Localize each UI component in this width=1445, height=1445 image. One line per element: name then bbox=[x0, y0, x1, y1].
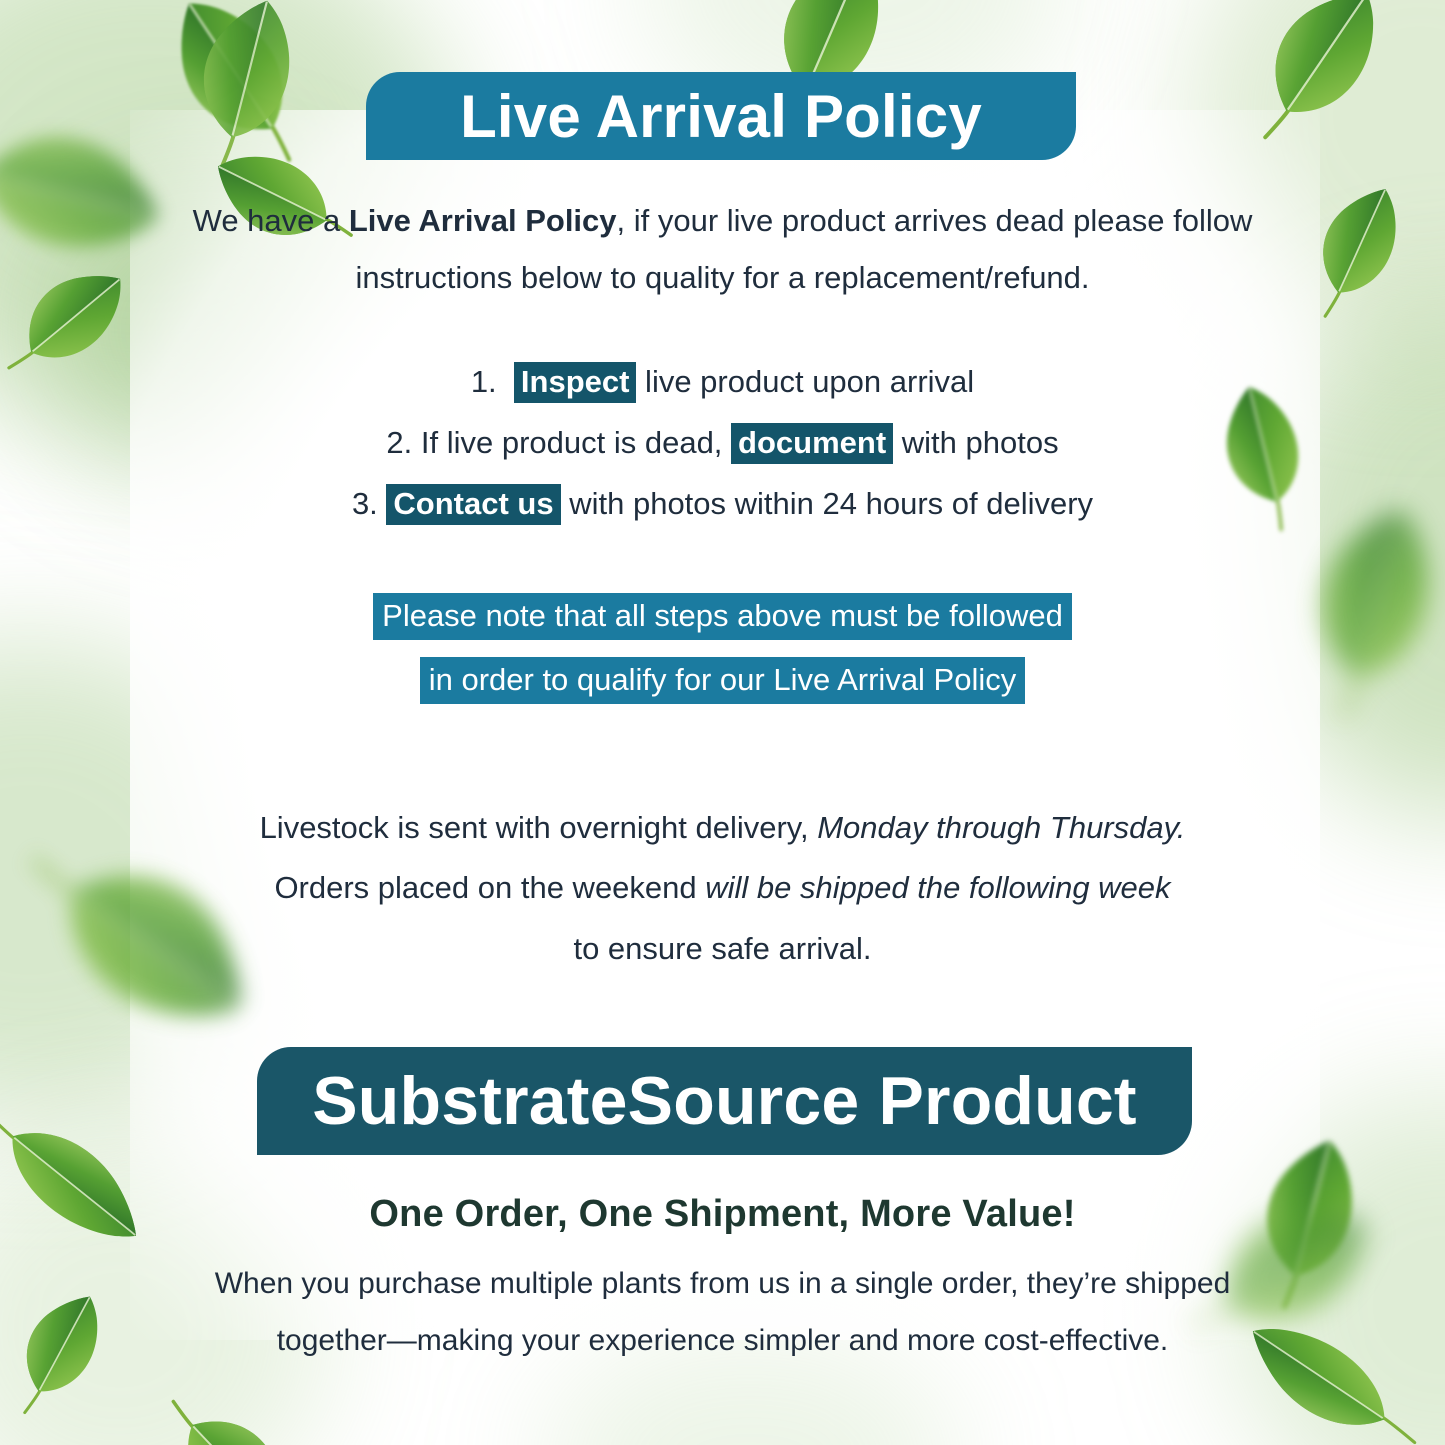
intro-line-1-part-c: , if your live product arrives dead plea… bbox=[617, 203, 1253, 238]
shipping-line-2: Orders placed on the weekend will be shi… bbox=[180, 858, 1265, 918]
policy-infographic: Live Arrival Policy We have a Live Arriv… bbox=[0, 0, 1445, 1445]
shipping-line-1-part-a: Livestock is sent with overnight deliver… bbox=[260, 810, 818, 845]
step-number: 2. bbox=[386, 425, 412, 460]
step-pre-text: If live product is dead, bbox=[412, 425, 731, 460]
step-highlight-inspect: Inspect bbox=[514, 362, 637, 403]
shipping-line-3: to ensure safe arrival. bbox=[180, 919, 1265, 979]
step-highlight-document: document bbox=[731, 423, 893, 464]
step-post-text: with photos within 24 hours of delivery bbox=[561, 486, 1093, 521]
value-subheading: One Order, One Shipment, More Value! bbox=[180, 1193, 1265, 1236]
list-item: 3. Contact us with photos within 24 hour… bbox=[180, 474, 1265, 535]
intro-line-2: instructions below to quality for a repl… bbox=[150, 249, 1295, 306]
policy-note-line-1-wrap: Please note that all steps above must be… bbox=[180, 584, 1265, 648]
step-post-text: with photos bbox=[893, 425, 1058, 460]
shipping-schedule-paragraph: Livestock is sent with overnight deliver… bbox=[180, 798, 1265, 979]
shipping-line-2-part-a: Orders placed on the weekend bbox=[274, 870, 705, 905]
policy-note-line-2-wrap: in order to qualify for our Live Arrival… bbox=[180, 648, 1265, 712]
combined-shipping-paragraph: When you purchase multiple plants from u… bbox=[150, 1255, 1295, 1369]
policy-note-line-1: Please note that all steps above must be… bbox=[373, 593, 1072, 640]
substratesource-product-banner: SubstrateSource Product bbox=[257, 1047, 1192, 1155]
live-arrival-policy-title: Live Arrival Policy bbox=[460, 82, 982, 151]
intro-paragraph: We have a Live Arrival Policy, if your l… bbox=[150, 192, 1295, 307]
list-item: 1. Inspect live product upon arrival bbox=[180, 352, 1265, 413]
intro-line-1-emphasis: Live Arrival Policy bbox=[349, 203, 617, 238]
list-item: 2. If live product is dead, document wit… bbox=[180, 413, 1265, 474]
steps-list: 1. Inspect live product upon arrival 2. … bbox=[180, 352, 1265, 534]
shipping-line-1-emphasis: Monday through Thursday. bbox=[817, 810, 1185, 845]
shipping-line-2-emphasis: will be shipped the following week bbox=[705, 870, 1170, 905]
outro-line-2: together—making your experience simpler … bbox=[150, 1312, 1295, 1369]
policy-note-line-2: in order to qualify for our Live Arrival… bbox=[420, 657, 1026, 704]
live-arrival-policy-banner: Live Arrival Policy bbox=[366, 72, 1076, 160]
substratesource-product-title: SubstrateSource Product bbox=[312, 1062, 1137, 1140]
intro-line-1: We have a Live Arrival Policy, if your l… bbox=[150, 192, 1295, 249]
step-post-text: live product upon arrival bbox=[636, 364, 974, 399]
policy-note: Please note that all steps above must be… bbox=[180, 584, 1265, 711]
step-highlight-contact-us[interactable]: Contact us bbox=[386, 484, 560, 525]
step-number: 1. bbox=[471, 364, 497, 399]
outro-line-1: When you purchase multiple plants from u… bbox=[150, 1255, 1295, 1312]
intro-line-1-part-a: We have a bbox=[193, 203, 349, 238]
shipping-line-1: Livestock is sent with overnight deliver… bbox=[180, 798, 1265, 858]
step-number: 3. bbox=[352, 486, 378, 521]
